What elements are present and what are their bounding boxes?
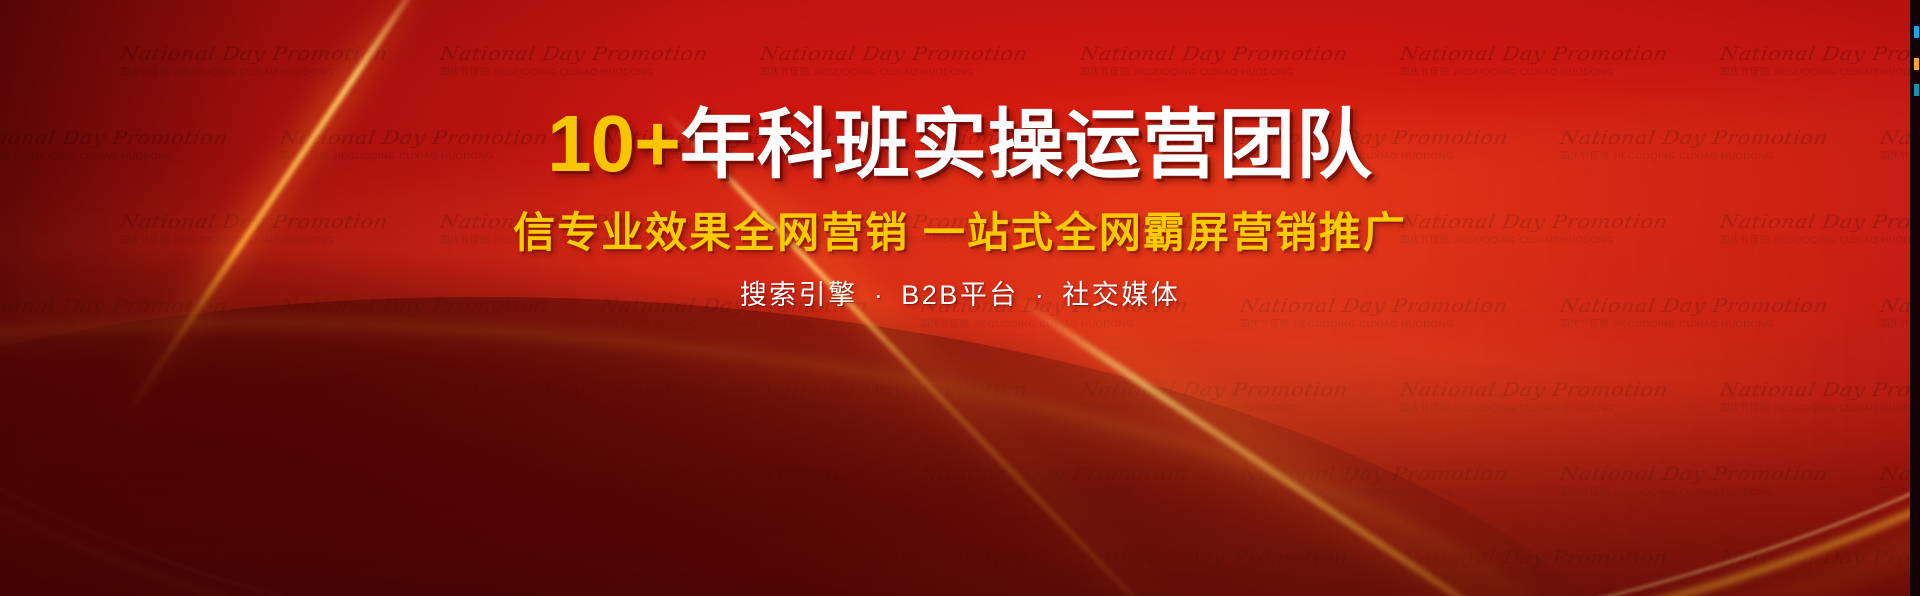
tagline-item-search-engine: 搜索引擎 (740, 280, 858, 310)
tagline-item-b2b-platform: B2B平台 (901, 280, 1019, 310)
headline-number: 10+ (547, 99, 680, 188)
banner-headline: 10+年科班实操运营团队 (547, 104, 1373, 184)
edge-artifact-dot-orange (1914, 58, 1919, 70)
tagline-item-social-media: 社交媒体 (1062, 280, 1180, 310)
banner-tagline: 搜索引擎 · B2B平台 · 社交媒体 (740, 282, 1181, 309)
edge-artifact-dot-teal (1914, 84, 1919, 96)
banner-subline: 信专业效果全网营销 一站式全网霸屏营销推广 (513, 212, 1407, 254)
promo-banner: National Day Promotion国庆节促销 JIEGUOQING C… (0, 0, 1920, 596)
right-edge-strip (1910, 0, 1920, 596)
banner-content: 10+年科班实操运营团队 信专业效果全网营销 一站式全网霸屏营销推广 搜索引擎 … (0, 0, 1920, 596)
tagline-separator-two: · (1029, 280, 1053, 310)
headline-text: 年科班实操运营团队 (680, 103, 1373, 188)
tagline-separator-one: · (868, 280, 892, 310)
edge-artifact-dot-blue (1914, 26, 1919, 38)
